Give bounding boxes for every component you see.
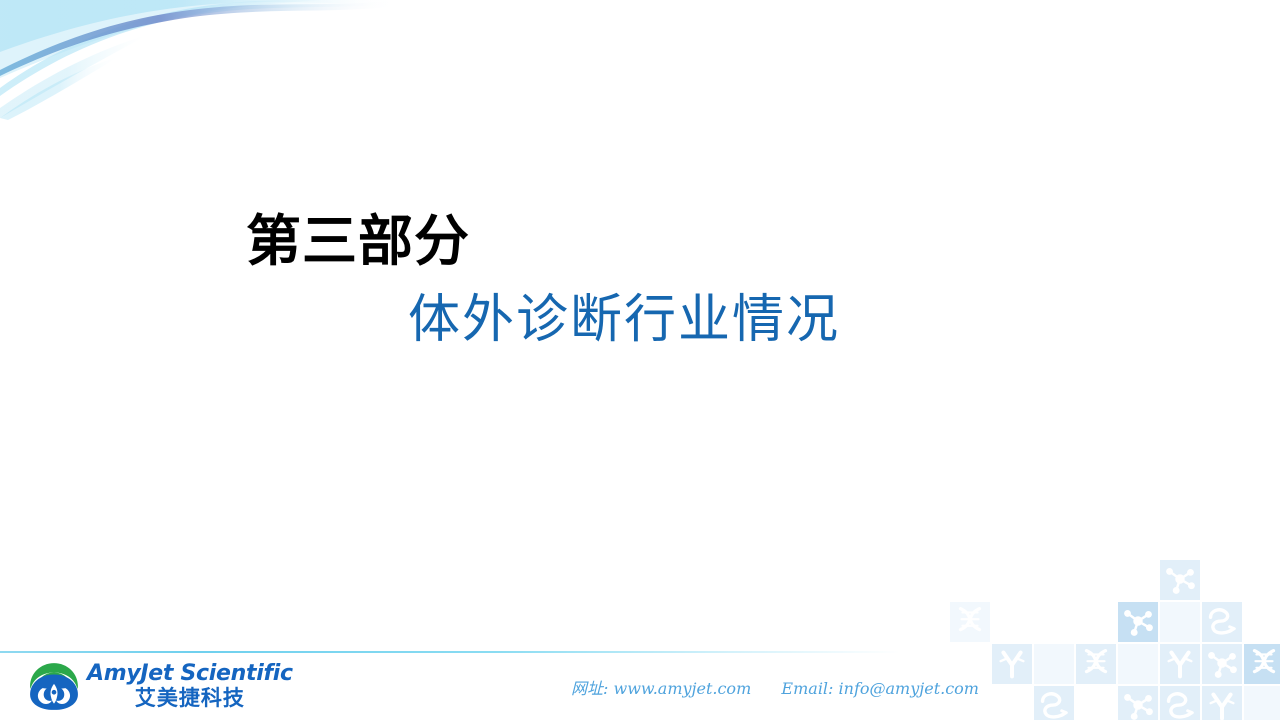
- protein-icon: [1160, 686, 1200, 720]
- dna-helix-icon: [950, 602, 990, 642]
- mosaic-tile-protein: [1202, 602, 1242, 642]
- mosaic-tile-molecule: [1118, 602, 1158, 642]
- website-url[interactable]: www.amyjet.com: [614, 679, 752, 698]
- email-address[interactable]: info@amyjet.com: [839, 679, 979, 698]
- mosaic-tile-dna-helix: [950, 602, 990, 642]
- mosaic-tile-antibody: [1160, 644, 1200, 684]
- antibody-icon: [992, 644, 1032, 684]
- mosaic-tile-protein: [1034, 686, 1074, 720]
- logo-wordmark: AmyJet Scientific 艾美捷科技: [87, 663, 293, 709]
- antibody-icon: [1160, 644, 1200, 684]
- antibody-icon: [1202, 686, 1242, 720]
- mosaic-tile-molecule: [1202, 644, 1242, 684]
- mosaic-tile-dna-helix: [1076, 644, 1116, 684]
- mosaic-tile-dna-helix: [1244, 644, 1280, 684]
- amyjet-logo-mark: [28, 661, 80, 711]
- section-number-title: 第三部分: [246, 206, 1280, 276]
- footer-contact-line: 网址: www.amyjet.com Email: info@amyjet.co…: [571, 675, 979, 699]
- mosaic-tile-antibody: [1202, 686, 1242, 720]
- mosaic-tile-none: [1034, 644, 1074, 684]
- mosaic-tile-molecule: [1118, 686, 1158, 720]
- wave-decoration: [0, 0, 470, 120]
- email-label: Email:: [781, 679, 833, 698]
- footer-divider-rule: [0, 651, 900, 653]
- mosaic-tile-none: [1244, 686, 1280, 720]
- company-logo: AmyJet Scientific 艾美捷科技: [28, 661, 293, 711]
- website-label: 网址:: [571, 679, 608, 698]
- mosaic-tile-none: [1118, 644, 1158, 684]
- dna-helix-icon: [1076, 644, 1116, 684]
- slide-title-block: 第三部分 体外诊断行业情况: [0, 206, 1280, 354]
- mosaic-tile-antibody: [992, 644, 1032, 684]
- logo-chinese-name: 艾美捷科技: [135, 688, 245, 709]
- mosaic-tile-none: [1160, 602, 1200, 642]
- molecule-icon: [1160, 560, 1200, 600]
- bio-icon-tile-grid: [950, 560, 1280, 720]
- logo-english-name: AmyJet Scientific: [87, 663, 293, 685]
- presentation-slide: 第三部分 体外诊断行业情况 AmyJet Scientific 艾美捷科技 网址…: [0, 0, 1280, 720]
- dna-helix-icon: [1244, 644, 1280, 684]
- mosaic-tile-protein: [1160, 686, 1200, 720]
- mosaic-tile-molecule: [1160, 560, 1200, 600]
- section-subject-title: 体外诊断行业情况: [408, 286, 1280, 354]
- protein-icon: [1034, 686, 1074, 720]
- molecule-icon: [1202, 644, 1242, 684]
- molecule-icon: [1118, 686, 1158, 720]
- protein-icon: [1202, 602, 1242, 642]
- molecule-icon: [1118, 602, 1158, 642]
